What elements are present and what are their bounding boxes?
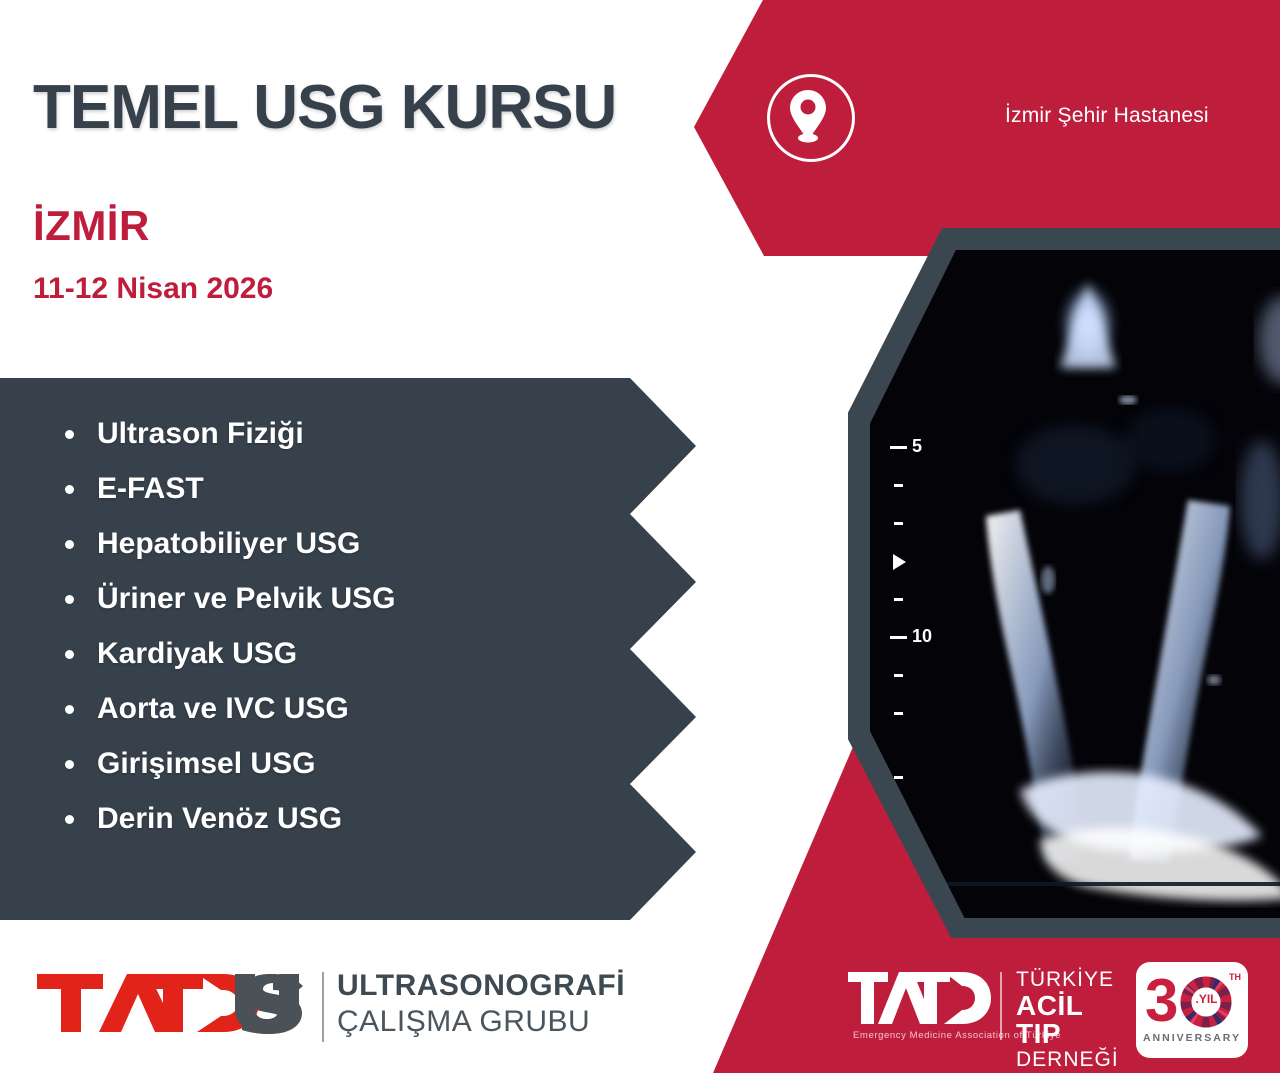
tatdus-subtitle-line1: ULTRASONOGRAFİ [337,968,625,1004]
scale-tick-minor [894,598,903,601]
ultrasound-image: 5 10 [870,250,1280,918]
tatd-subtitle-line2: ACİL TIP [1016,992,1119,1048]
bullet-icon [65,430,74,439]
tatd-subtitle: TÜRKİYE ACİL TIP DERNEĞİ [1016,968,1119,1072]
bullet-icon [65,815,74,824]
bullet-icon [65,760,74,769]
list-item: Hepatobiliyer USG [55,516,395,571]
list-item: Ultrason Fiziği [55,406,395,461]
depth-label-5: 5 [912,437,922,455]
list-item: Kardiyak USG [55,626,395,681]
topic-label: Hepatobiliyer USG [97,527,360,560]
tatdus-subtitle-line2: ÇALIŞMA GRUBU [337,1004,625,1040]
tatd-subtitle-line1: TÜRKİYE [1016,968,1119,992]
venue-name: İzmir Şehir Hastanesi [1005,104,1280,128]
poster-canvas: İzmir Şehir Hastanesi [0,0,1280,1073]
scale-tick-minor [894,484,903,487]
map-pin-icon [786,88,830,144]
anniversary-badge: 3 .YIL TH ANNIVERSARY [1136,962,1248,1058]
list-item: Üriner ve Pelvik USG [55,571,395,626]
anniversary-superscript: TH [1229,972,1241,982]
page-title: TEMEL USG KURSU [33,72,616,143]
city-name: İZMİR [33,202,150,250]
topic-label: Derin Venöz USG [97,802,342,835]
scale-tick-minor [894,712,903,715]
tatd-wordmark-icon [848,970,993,1028]
scale-tick-minor [894,776,903,779]
tatd-logo-divider [1000,972,1002,1040]
course-dates: 11-12 Nisan 2026 [33,272,273,306]
list-item: Aorta ve IVC USG [55,681,395,736]
topics-list: Ultrason Fiziği E-FAST Hepatobiliyer USG… [55,406,395,846]
anniversary-number: 3 [1145,971,1178,1031]
bullet-icon [65,485,74,494]
scale-tick-minor [894,674,903,677]
bullet-icon [65,705,74,714]
list-item: E-FAST [55,461,395,516]
tatd-subtitle-line3: DERNEĞİ [1016,1048,1119,1072]
scale-tick-minor [894,522,903,525]
topic-label: E-FAST [97,472,204,505]
anniversary-caption: ANNIVERSARY [1136,1032,1248,1044]
anniversary-inner-label: .YIL [1190,992,1223,1006]
bullet-icon [65,595,74,604]
bullet-icon [65,650,74,659]
list-item: Derin Venöz USG [55,791,395,846]
topic-label: Ultrason Fiziği [97,417,304,450]
topic-label: Kardiyak USG [97,637,297,670]
bullet-icon [65,540,74,549]
topic-label: Üriner ve Pelvik USG [97,582,395,615]
focus-triangle-icon [893,554,906,570]
depth-label-10: 10 [912,627,932,645]
topic-label: Aorta ve IVC USG [97,692,349,725]
tatdus-wordmark-icon [37,972,307,1034]
logo-divider [322,972,324,1042]
scale-tick-major [890,446,907,449]
topic-label: Girişimsel USG [97,747,315,780]
list-item: Girişimsel USG [55,736,395,791]
scale-tick-major [890,636,907,639]
depth-scale: 5 10 [890,446,970,846]
tatdus-subtitle: ULTRASONOGRAFİ ÇALIŞMA GRUBU [337,968,625,1040]
